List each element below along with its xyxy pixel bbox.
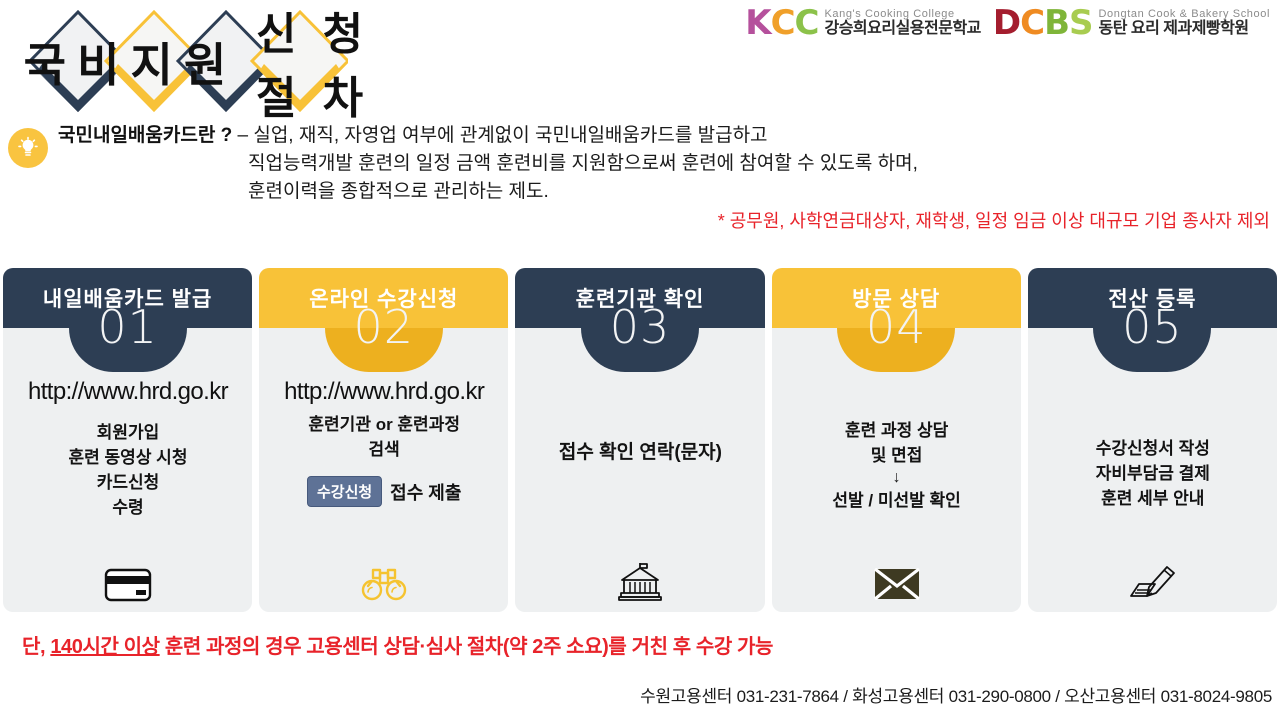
step-card-2[interactable]: 온라인 수강신청 02 http://www.hrd.go.kr 훈련기관 or…: [259, 268, 508, 612]
down-arrow-icon: ↓: [832, 468, 960, 488]
step-card-1[interactable]: 내일배움카드 발급 01 http://www.hrd.go.kr 회원가입 훈…: [3, 268, 252, 612]
pencil-writing-icon: [1028, 560, 1278, 602]
step-card-1-lines: 회원가입 훈련 동영상 시청 카드신청 수령: [69, 420, 188, 520]
steps-row: 내일배움카드 발급 01 http://www.hrd.go.kr 회원가입 훈…: [0, 268, 1280, 612]
intro-line-3: 훈련이력을 종합적으로 관리하는 제도.: [58, 178, 1274, 206]
title-tail: 신 청 절 차: [256, 0, 418, 126]
step-card-1-line-4: 수령: [69, 495, 188, 520]
lightbulb-icon: [8, 128, 48, 168]
dcbs-wordmark: DCBS: [993, 6, 1093, 40]
step-card-5-line-2: 자비부담금 결제: [1096, 461, 1210, 486]
step-card-1-number: 01: [97, 306, 158, 348]
step-card-5[interactable]: 전산 등록 05 수강신청서 작성 자비부담금 결제 훈련 세부 안내: [1028, 268, 1277, 612]
dcbs-name-kr: 동탄 요리 제과제빵학원: [1099, 20, 1271, 38]
intro-line-1-rest: – 실업, 재직, 자영업 여부에 관계없이 국민내일배움카드를 발급하고: [232, 125, 767, 146]
step-card-4-line-2: 및 면접: [832, 443, 960, 468]
warning-hours: 140시간 이상: [50, 636, 159, 658]
step-card-3-line-1: 접수 확인 연락(문자): [559, 440, 722, 465]
step-card-5-lines: 수강신청서 작성 자비부담금 결제 훈련 세부 안내: [1096, 436, 1210, 511]
page-footer: 단, 140시간 이상 훈련 과정의 경우 고용센터 상담·심사 절차(약 2주…: [0, 630, 1280, 720]
dcbs-name-en: Dongtan Cook & Bakery School: [1099, 8, 1271, 20]
warning-note: 단, 140시간 이상 훈련 과정의 경우 고용센터 상담·심사 절차(약 2주…: [22, 630, 773, 659]
step-card-4-lines: 훈련 과정 상담 및 면접 ↓ 선발 / 미선발 확인: [832, 418, 960, 513]
step-card-2-badge-row: 수강신청 접수 제출: [307, 476, 461, 507]
title-char-4: 원: [178, 29, 231, 95]
binoculars-icon: [259, 564, 509, 602]
step-card-4-line-1: 훈련 과정 상담: [832, 418, 960, 443]
step-card-1-line-1: 회원가입: [69, 420, 188, 445]
step-card-5-number: 05: [1122, 306, 1183, 348]
step-card-2-badge-text: 접수 제출: [390, 479, 461, 505]
intro-exclusion-note: * 공무원, 사학연금대상자, 재학생, 일정 임금 이상 대규모 기업 종사자…: [58, 206, 1274, 236]
intro-lead: 국민내일배움카드란 ?: [58, 125, 232, 146]
step-card-5-line-3: 훈련 세부 안내: [1096, 486, 1210, 511]
step-card-2-number: 02: [354, 306, 415, 348]
intro-section: 국민내일배움카드란 ? – 실업, 재직, 자영업 여부에 관계없이 국민내일배…: [0, 122, 1280, 252]
intro-text: 국민내일배움카드란 ? – 실업, 재직, 자영업 여부에 관계없이 국민내일배…: [58, 122, 1274, 236]
kcc-wordmark: KCC: [745, 6, 818, 40]
kcc-name-en: Kang's Cooking College: [824, 8, 980, 20]
apply-button[interactable]: 수강신청: [307, 476, 382, 507]
step-card-4[interactable]: 방문 상담 04 훈련 과정 상담 및 면접 ↓ 선발 / 미선발 확인: [772, 268, 1021, 612]
step-card-2-url[interactable]: http://www.hrd.go.kr: [284, 378, 484, 406]
credit-card-icon: [3, 566, 253, 602]
warning-prefix: 단,: [22, 636, 50, 658]
logo-kcc: KCC Kang's Cooking College 강승희요리실용전문학교: [745, 6, 981, 40]
step-card-2-line-1: 훈련기관 or 훈련과정: [308, 412, 460, 437]
title-char-1: 국: [18, 29, 71, 95]
step-card-3[interactable]: 훈련기관 확인 03 접수 확인 연락(문자): [515, 268, 764, 612]
intro-line-2: 직업능력개발 훈련의 일정 금액 훈련비를 지원함으로써 훈련에 참여할 수 있…: [58, 150, 1274, 178]
logo-dcbs: DCBS Dongtan Cook & Bakery School 동탄 요리 …: [993, 6, 1270, 40]
logo-group: KCC Kang's Cooking College 강승희요리실용전문학교 D…: [745, 6, 1270, 40]
step-card-5-line-1: 수강신청서 작성: [1096, 436, 1210, 461]
step-card-2-line-2: 검색: [308, 437, 460, 462]
step-card-1-line-2: 훈련 동영상 시청: [69, 445, 188, 470]
warning-suffix: 훈련 과정의 경우 고용센터 상담·심사 절차(약 2주 소요)를 거친 후 수…: [160, 636, 773, 658]
step-card-3-number: 03: [610, 306, 671, 348]
kcc-name-kr: 강승희요리실용전문학교: [824, 20, 980, 38]
title-char-2: 비: [71, 29, 124, 95]
step-card-4-line-3: 선발 / 미선발 확인: [832, 488, 960, 513]
step-card-1-line-3: 카드신청: [69, 470, 188, 495]
step-card-4-number: 04: [866, 306, 927, 348]
envelope-icon: [772, 566, 1022, 602]
title-char-3: 지: [125, 29, 178, 95]
institution-icon: [515, 560, 765, 602]
infographic-page: 국 비 지 원 신 청 절 차 KCC Kang's Cooking Colle…: [0, 0, 1280, 720]
intro-line-1: 국민내일배움카드란 ? – 실업, 재직, 자영업 여부에 관계없이 국민내일배…: [58, 122, 1274, 150]
page-header: 국 비 지 원 신 청 절 차 KCC Kang's Cooking Colle…: [0, 0, 1280, 120]
step-card-1-url[interactable]: http://www.hrd.go.kr: [28, 378, 228, 406]
step-card-3-lines: 접수 확인 연락(문자): [559, 440, 722, 465]
contact-info: 수원고용센터 031-231-7864 / 화성고용센터 031-290-080…: [640, 682, 1272, 707]
step-card-2-lines: 훈련기관 or 훈련과정 검색: [308, 412, 460, 462]
